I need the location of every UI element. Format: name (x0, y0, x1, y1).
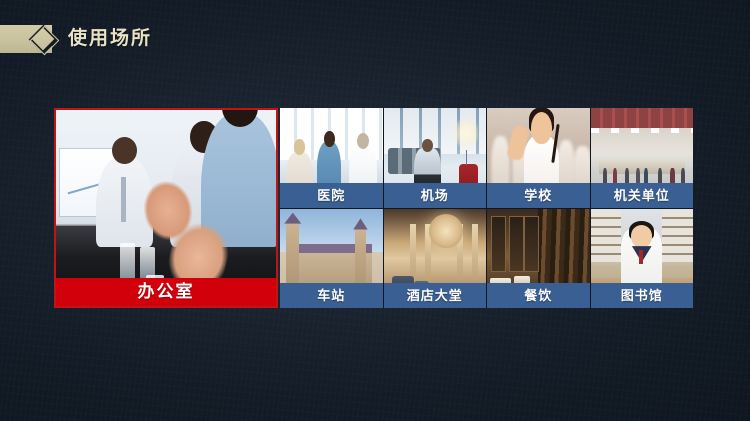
thumb-caption: 机关单位 (591, 183, 694, 208)
thumb-tile-airport[interactable]: 机场 (384, 108, 487, 208)
thumb-caption: 酒店大堂 (384, 283, 487, 308)
thumb-caption: 餐饮 (487, 283, 590, 308)
feature-caption: 办公室 (56, 278, 276, 306)
thumb-tile-school[interactable]: 学校 (487, 108, 590, 208)
thumbnail-grid: 医院 机场 学校 (280, 108, 693, 308)
thumb-caption: 车站 (280, 283, 383, 308)
thumb-tile-hospital[interactable]: 医院 (280, 108, 383, 208)
feature-tile-office[interactable]: 办公室 (54, 108, 278, 308)
page-title: 使用场所 (68, 25, 152, 53)
thumb-caption: 学校 (487, 183, 590, 208)
thumb-caption: 机场 (384, 183, 487, 208)
thumb-tile-dining[interactable]: 餐饮 (487, 209, 590, 309)
thumb-tile-government[interactable]: 机关单位 (591, 108, 694, 208)
thumb-tile-hotel-lobby[interactable]: 酒店大堂 (384, 209, 487, 309)
thumb-tile-station[interactable]: 车站 (280, 209, 383, 309)
thumb-caption: 医院 (280, 183, 383, 208)
usage-scenarios-gallery: 办公室 医院 机场 (54, 108, 691, 308)
presentation-slide: 使用场所 办公室 (0, 0, 750, 421)
diamond-stroke (29, 25, 59, 55)
office-meeting-photo (56, 110, 276, 306)
thumb-caption: 图书馆 (591, 283, 694, 308)
diamond-icon (27, 24, 59, 54)
thumb-tile-library[interactable]: 图书馆 (591, 209, 694, 309)
